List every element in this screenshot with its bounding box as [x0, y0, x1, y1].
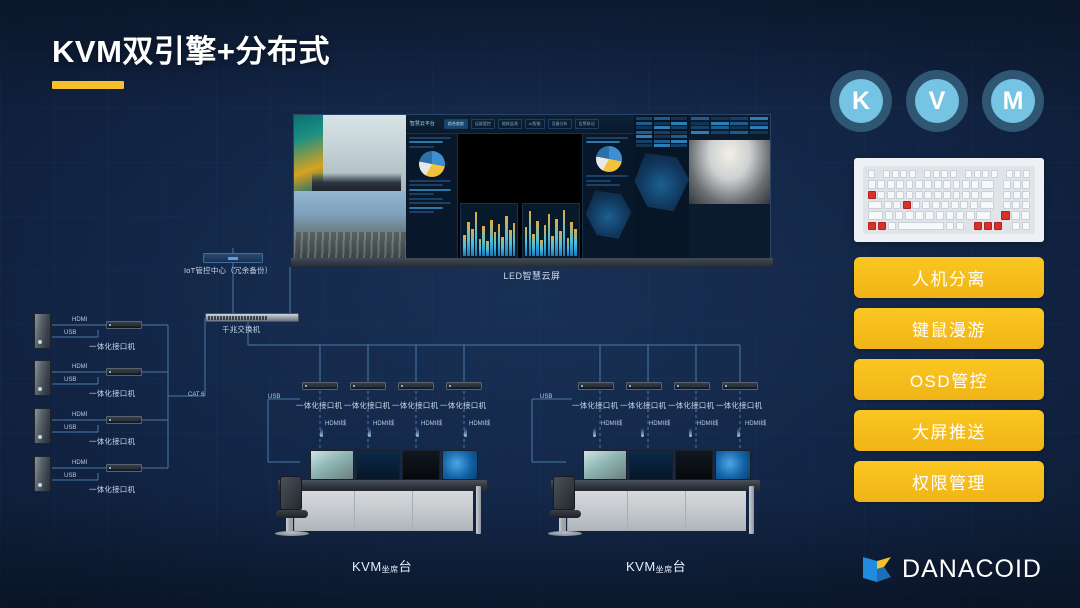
keyboard-key [906, 180, 914, 188]
interface-unit-2-label: 一体化接口机 [89, 388, 135, 399]
keyboard-key [1021, 211, 1030, 219]
kvm-console-left-label: KVM坐席台 [352, 556, 412, 575]
keyboard-key [1023, 170, 1030, 178]
wall-column-data-grid [634, 115, 689, 261]
left-console-cable-2: HDMI线 [373, 418, 394, 427]
switch-port [217, 316, 219, 320]
kvm-console-left-title-tail: 台 [399, 559, 413, 574]
iot-node-chip [228, 257, 238, 260]
left-console-cable-3: HDMI线 [421, 418, 442, 427]
bar [509, 230, 512, 256]
wall-data-grid-right [689, 115, 770, 136]
interface-unit-3 [106, 416, 142, 424]
bar [544, 225, 547, 256]
wall-photo-city-traffic [294, 191, 406, 261]
switch-port [247, 316, 249, 320]
grid-cell [750, 131, 768, 134]
chair-post [290, 518, 293, 532]
dashboard-left-panel [406, 134, 459, 261]
dashboard-bar-chart-1 [460, 203, 518, 259]
chair-post [563, 518, 566, 532]
dashboard-center-viewport [458, 134, 581, 261]
bar [513, 223, 516, 256]
keyboard-key [982, 170, 989, 178]
keyboard-key [900, 170, 907, 178]
keyboard-key [893, 201, 901, 209]
bar [563, 210, 566, 256]
bar [494, 232, 497, 256]
status-led-icon [401, 385, 403, 387]
keyboard-key [962, 191, 970, 199]
left-console-cable-4: HDMI线 [469, 418, 490, 427]
status-led-icon [305, 385, 307, 387]
keyboard-key-gap [877, 170, 882, 178]
bar [467, 222, 470, 256]
keyboard-key [933, 170, 940, 178]
kvm-badge-m-letter: M [991, 79, 1035, 123]
bar [501, 237, 504, 256]
status-led-icon [109, 419, 111, 421]
wall-column-right [689, 115, 770, 261]
grid-cell [671, 144, 687, 147]
grid-cell [636, 135, 652, 138]
bar [471, 229, 474, 256]
right-console-usb-label: USB [540, 394, 552, 400]
switch-port [250, 316, 252, 320]
bar [548, 214, 551, 256]
keyboard-key [877, 191, 885, 199]
switch-port [262, 316, 264, 320]
dashboard-tab-2[interactable]: 能耗监测 [498, 119, 522, 129]
keyboard-key [934, 180, 942, 188]
source-tower-2 [34, 360, 51, 396]
iface-strip [112, 419, 140, 421]
dashboard-stat-line [409, 137, 451, 139]
keyboard-key-highlight [868, 222, 876, 230]
dashboard-donut-chart [596, 146, 622, 172]
keyboard-key [1014, 170, 1021, 178]
keyboard-key-highlight [974, 222, 982, 230]
grid-cell [671, 126, 687, 129]
keyboard-key [962, 180, 970, 188]
keyboard-key [970, 201, 978, 209]
grid-row [691, 126, 768, 129]
keyboard-key [950, 170, 957, 178]
wall-silhouette-map [634, 153, 689, 211]
wall-column-photos [294, 115, 406, 261]
grid-cell [671, 135, 687, 138]
keyboard-key-shift [868, 211, 883, 219]
iface-strip [452, 385, 480, 387]
interface-unit-1-label: 一体化接口机 [89, 341, 135, 352]
grid-row [636, 122, 687, 125]
grid-cell [636, 117, 652, 120]
keyboard-key [951, 201, 959, 209]
iface-strip [112, 324, 140, 326]
switch-port [232, 316, 234, 320]
keyboard-key-gap [966, 222, 972, 230]
keyboard-key [953, 180, 961, 188]
switch-port [244, 316, 246, 320]
dashboard-title: 智慧云平台 [410, 120, 435, 127]
keyboard-key [966, 211, 975, 219]
bar [505, 216, 508, 256]
keyboard-key [905, 211, 914, 219]
keyboard-key [953, 191, 961, 199]
bar [479, 239, 482, 256]
status-led-icon [109, 324, 111, 326]
dashboard-stat-line [409, 207, 443, 209]
keyboard-key-highlight [994, 222, 1002, 230]
grid-row [636, 135, 687, 138]
feature-button-jianshu-manyou[interactable]: 键鼠漫游 [854, 308, 1044, 349]
keyboard-key-highlight [903, 201, 911, 209]
grid-cell [750, 122, 768, 125]
bar [559, 231, 562, 256]
grid-cell [730, 131, 748, 134]
feature-button-list: 人机分离 键鼠漫游 OSD管控 大屏推送 权限管理 [854, 257, 1044, 502]
gigabit-switch-node [205, 313, 299, 322]
keyboard-key [1003, 201, 1011, 209]
wall-column-dashboard: 智慧云平台 综合态势 运维管控 能耗监测 AI智能 设备分析 告警联动 [406, 115, 634, 261]
keyboard-row [868, 211, 1030, 219]
keyboard-key [868, 170, 875, 178]
dashboard-tab-1[interactable]: 运维管控 [471, 119, 495, 129]
switch-port [220, 316, 222, 320]
grid-cell [636, 122, 652, 125]
console-desk-cabinet [567, 491, 746, 531]
status-led-icon [629, 385, 631, 387]
dashboard-stat-line [586, 180, 611, 182]
keyboard-key [943, 180, 951, 188]
bar [540, 240, 543, 256]
keyboard-key-gap [996, 191, 1002, 199]
console-monitor-dashboard [356, 450, 400, 480]
left-console-interface-4-label: 一体化接口机 [440, 400, 486, 411]
grid-row [636, 117, 687, 120]
kvm-console-left [272, 428, 487, 543]
wall-data-grid [634, 115, 689, 149]
keyboard-key-gap [999, 170, 1004, 178]
grid-row [636, 131, 687, 134]
status-led-icon [581, 385, 583, 387]
kvm-console-right-title-tail: 台 [673, 559, 687, 574]
keyboard-key [884, 201, 892, 209]
dashboard-right-panel [582, 134, 635, 261]
feature-button-quanxian-guanli[interactable]: 权限管理 [854, 461, 1044, 502]
cable-label-usb-4: USB [64, 473, 76, 479]
switch-port [211, 316, 213, 320]
dashboard-tab-4[interactable]: 设备分析 [548, 119, 572, 129]
switch-port [256, 316, 258, 320]
keyboard-key [887, 191, 895, 199]
keyboard-key [1011, 211, 1020, 219]
grid-cell [636, 140, 652, 143]
bar [567, 238, 570, 256]
interface-unit-4-label: 一体化接口机 [89, 484, 135, 495]
grid-cell [711, 131, 729, 134]
kvm-badge-k: K [830, 70, 892, 132]
keyboard-key [1003, 191, 1011, 199]
bar [536, 221, 539, 256]
feature-button-renji-fenli[interactable]: 人机分离 [854, 257, 1044, 298]
keyboard-row [868, 180, 1030, 188]
iface-strip [356, 385, 384, 387]
cable-label-usb-3: USB [64, 425, 76, 431]
cable-label-hdmi-1: HDMI [72, 317, 87, 323]
keyboard-key [960, 201, 968, 209]
iface-strip [632, 385, 660, 387]
keyboard-key [915, 180, 923, 188]
ceiling-light-icon [368, 428, 371, 437]
bar [532, 234, 535, 256]
switch-port [226, 316, 228, 320]
keyboard-key [906, 191, 914, 199]
keyboard-key [1003, 180, 1011, 188]
grid-cell [750, 126, 768, 129]
keyboard-key [936, 211, 945, 219]
grid-cell [654, 131, 670, 134]
grid-row [636, 140, 687, 143]
switch-port [259, 316, 261, 320]
danacoid-logo-icon [862, 555, 893, 584]
keyboard-key [971, 180, 979, 188]
keyboard-key [922, 201, 930, 209]
bar [551, 236, 554, 256]
keyboard-key [971, 191, 979, 199]
source-tower-1 [34, 313, 51, 349]
console-monitor-desktop [715, 450, 751, 480]
chair-seat [549, 510, 581, 518]
dashboard-tab-3[interactable]: AI智能 [525, 119, 545, 129]
keyboard-key [915, 191, 923, 199]
keyboard-key [915, 211, 924, 219]
ceiling-light-icon [593, 428, 596, 437]
iface-strip [680, 385, 708, 387]
kvm-badge-k-letter: K [839, 79, 883, 123]
keyboard-key [941, 201, 949, 209]
grid-cell [691, 122, 709, 125]
keyboard-key-rshift [976, 211, 991, 219]
switch-port [238, 316, 240, 320]
chair-backrest [553, 476, 575, 510]
left-console-interface-4 [446, 382, 482, 390]
grid-cell [636, 126, 652, 129]
keyboard-key-gap [996, 180, 1002, 188]
dashboard-stat-line [586, 184, 620, 186]
status-led-icon [109, 371, 111, 373]
keyboard-key-return [980, 201, 994, 209]
keyboard-key [868, 180, 876, 188]
keyboard-key [1012, 222, 1020, 230]
right-console-interface-4-label: 一体化接口机 [716, 400, 762, 411]
grid-cell [671, 131, 687, 134]
led-wall-label: LED智慧云屏 [293, 269, 771, 282]
keyboard-key-capslock [868, 201, 882, 209]
interface-unit-4 [106, 464, 142, 472]
chair-seat [276, 510, 308, 518]
keyboard-key [934, 191, 942, 199]
right-console-interface-1-label: 一体化接口机 [572, 400, 618, 411]
left-console-interface-1 [302, 382, 338, 390]
ceiling-light-icon [416, 428, 419, 437]
keyboard-key-gap [917, 170, 922, 178]
grid-cell [654, 135, 670, 138]
keyboard-key [956, 211, 965, 219]
dashboard-body [406, 134, 634, 261]
keyboard-key [888, 222, 896, 230]
keyboard-key [912, 201, 920, 209]
kvm-console-right-title-sub: 坐席 [656, 565, 673, 574]
right-console-interface-2 [626, 382, 662, 390]
keyboard-key [885, 211, 894, 219]
kvm-console-right [545, 428, 760, 543]
cable-label-usb-1: USB [64, 330, 76, 336]
interface-unit-2 [106, 368, 142, 376]
grid-cell [750, 117, 768, 120]
keyboard-body [863, 166, 1035, 234]
grid-cell [711, 126, 729, 129]
grid-cell [730, 126, 748, 129]
grid-cell [711, 122, 729, 125]
interface-unit-1 [106, 321, 142, 329]
grid-cell [654, 140, 670, 143]
console-desk-leg-right [476, 486, 481, 534]
keyboard-key [925, 211, 934, 219]
dashboard-stat-line [409, 141, 443, 143]
keyboard-key [943, 191, 951, 199]
feature-button-osd-guankong[interactable]: OSD管控 [854, 359, 1044, 400]
keyboard-key-highlight [878, 222, 886, 230]
dashboard-stat-line [409, 211, 434, 213]
grid-cell [671, 140, 687, 143]
dashboard-region-map [586, 190, 632, 238]
switch-port [235, 316, 237, 320]
ceiling-light-icon [689, 428, 692, 437]
title-underline [52, 81, 124, 89]
chair-base [548, 531, 582, 536]
kvm-console-right-title: KVM [626, 559, 656, 574]
grid-cell [636, 131, 652, 134]
right-console-cable-1: HDMI线 [601, 418, 622, 427]
dashboard-tabs: 综合态势 运维管控 能耗监测 AI智能 设备分析 告警联动 [444, 119, 599, 129]
dashboard-tab-5[interactable]: 告警联动 [575, 119, 599, 129]
dashboard-stat-line [409, 198, 443, 200]
kvm-badge-m: M [982, 70, 1044, 132]
keyboard-row [868, 201, 1030, 209]
grid-cell [654, 126, 670, 129]
keyboard-key-gap [958, 170, 963, 178]
keyboard-key [1022, 191, 1030, 199]
iface-strip [404, 385, 432, 387]
iface-strip [112, 371, 140, 373]
keyboard-key [991, 170, 998, 178]
kvm-badge-v-letter: V [915, 79, 959, 123]
keyboard-key [883, 170, 890, 178]
cable-label-cat6: CAT 6 [188, 392, 204, 398]
right-console-interface-3 [674, 382, 710, 390]
keyboard-key [1022, 201, 1030, 209]
grid-cell [691, 131, 709, 134]
dashboard-tab-0[interactable]: 综合态势 [444, 119, 468, 129]
chair-backrest [280, 476, 302, 510]
keyboard-key [887, 180, 895, 188]
dashboard-stat-line [586, 141, 620, 143]
left-console-interface-2 [350, 382, 386, 390]
keyboard-key-space [898, 222, 945, 230]
dashboard-stat-line [409, 146, 434, 148]
right-console-interface-4 [722, 382, 758, 390]
keyboard-key [974, 170, 981, 178]
feature-button-daping-tuisong[interactable]: 大屏推送 [854, 410, 1044, 451]
source-tower-3 [34, 408, 51, 444]
right-console-interface-2-label: 一体化接口机 [620, 400, 666, 411]
keyboard-key [946, 222, 954, 230]
keyboard-key-gap [995, 201, 1001, 209]
keyboard-key [909, 170, 916, 178]
interface-unit-3-label: 一体化接口机 [89, 436, 135, 447]
keyboard-row [868, 222, 1030, 230]
keyboard-key [1022, 222, 1030, 230]
led-wall-frame [291, 258, 773, 267]
brand-logo: DANACOID [862, 555, 1042, 584]
status-led-icon [677, 385, 679, 387]
ceiling-light-icon [641, 428, 644, 437]
status-led-icon [109, 467, 111, 469]
keyboard-key [892, 170, 899, 178]
keyboard-key [895, 211, 904, 219]
bar [498, 224, 501, 256]
bar [463, 235, 466, 256]
cable-label-usb-2: USB [64, 377, 76, 383]
keyboard-key [1012, 201, 1020, 209]
grid-cell [691, 126, 709, 129]
iface-strip [728, 385, 756, 387]
keyboard-key-gap [993, 211, 1000, 219]
wall-photo-control-room [294, 115, 406, 191]
keyboard-key [1013, 180, 1021, 188]
grid-cell [671, 117, 687, 120]
console-monitor-desktop [442, 450, 478, 480]
keyboard-key [1006, 170, 1013, 178]
bar [475, 212, 478, 256]
wall-photo-conference-room [689, 140, 770, 204]
keyboard-key [946, 211, 955, 219]
cable-label-hdmi-4: HDMI [72, 460, 87, 466]
source-tower-4 [34, 456, 51, 492]
iface-strip [308, 385, 336, 387]
bar [570, 222, 573, 256]
cable-label-hdmi-3: HDMI [72, 412, 87, 418]
keyboard-key [932, 201, 940, 209]
iot-control-center-node [203, 253, 263, 263]
kvm-badges: K V M [830, 70, 1044, 132]
ceiling-light-icon [464, 428, 467, 437]
switch-port [229, 316, 231, 320]
left-console-interface-1-label: 一体化接口机 [296, 400, 342, 411]
keyboard-key [924, 170, 931, 178]
title-block: KVM双引擎+分布式 [52, 26, 330, 89]
bar [555, 219, 558, 256]
right-console-cable-4: HDMI线 [745, 418, 766, 427]
keyboard-key-gap [1004, 222, 1010, 230]
grid-row [691, 131, 768, 134]
grid-cell [654, 122, 670, 125]
left-console-cable-1: HDMI线 [325, 418, 346, 427]
keyboard-row [868, 170, 1030, 178]
grid-cell [730, 117, 748, 120]
bar [529, 211, 532, 256]
